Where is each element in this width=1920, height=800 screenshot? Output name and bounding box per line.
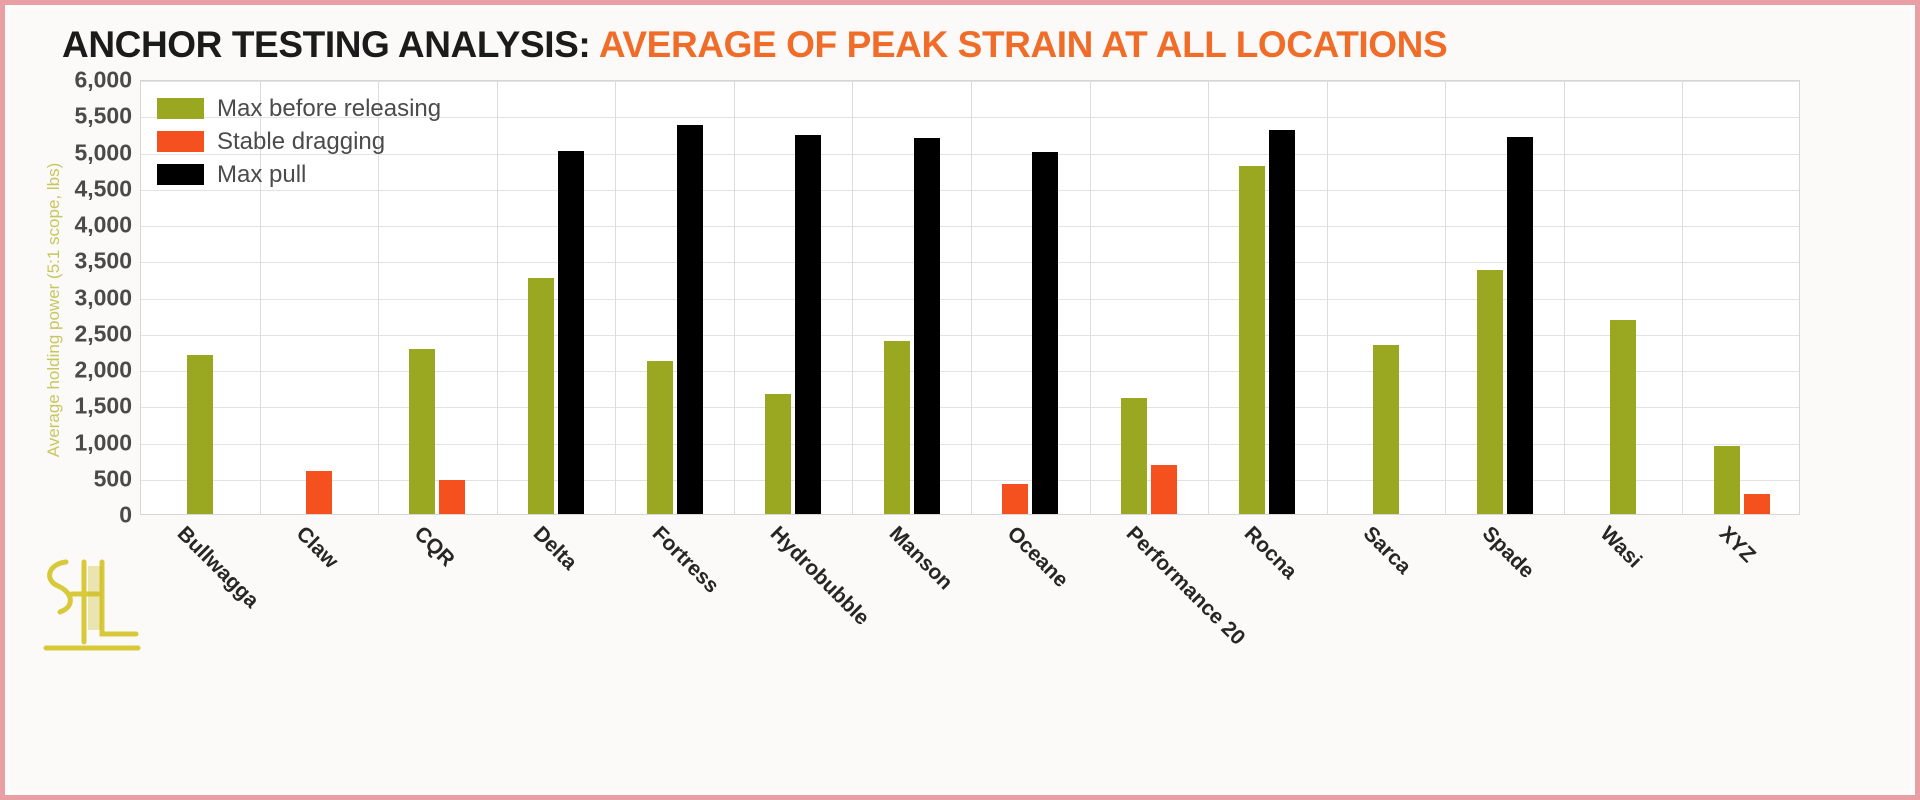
bar bbox=[558, 151, 584, 514]
bar bbox=[1373, 345, 1399, 514]
bar bbox=[1002, 484, 1028, 514]
legend-label: Stable dragging bbox=[217, 128, 385, 156]
legend-swatch bbox=[157, 131, 204, 152]
bar bbox=[1032, 152, 1058, 515]
bar bbox=[306, 471, 332, 514]
x-axis-tick-label: Fortress bbox=[647, 522, 723, 598]
bar bbox=[795, 135, 821, 514]
legend-item[interactable]: Stable dragging bbox=[157, 125, 441, 158]
chart-title: ANCHOR TESTING ANALYSIS: AVERAGE OF PEAK… bbox=[62, 24, 1447, 66]
y-axis-tick-label: 5,500 bbox=[14, 103, 132, 130]
y-axis-tick-label: 1,000 bbox=[14, 429, 132, 456]
sail-logo bbox=[32, 550, 152, 660]
x-axis-tick-label: Bullwagga bbox=[172, 522, 263, 613]
x-axis-tick-label: Manson bbox=[884, 522, 957, 595]
bar bbox=[914, 138, 940, 514]
x-axis-tick-label: Oceane bbox=[1002, 522, 1073, 593]
y-axis-tick-label: 500 bbox=[14, 465, 132, 492]
bar bbox=[409, 349, 435, 514]
chart-title-part2: AVERAGE OF PEAK STRAIN AT ALL LOCATIONS bbox=[599, 24, 1447, 65]
legend-label: Max before releasing bbox=[217, 95, 441, 123]
y-axis-tick-label: 4,500 bbox=[14, 175, 132, 202]
bar bbox=[1610, 320, 1636, 514]
x-axis-tick-label: Rocna bbox=[1239, 522, 1301, 584]
legend-item[interactable]: Max before releasing bbox=[157, 92, 441, 125]
bar bbox=[1507, 137, 1533, 514]
bar bbox=[1269, 130, 1295, 514]
y-axis-tick-label: 3,000 bbox=[14, 284, 132, 311]
y-axis-tick-label: 1,500 bbox=[14, 393, 132, 420]
bar bbox=[1151, 465, 1177, 514]
bar bbox=[1714, 446, 1740, 514]
y-axis-tick-label: 5,000 bbox=[14, 139, 132, 166]
bar bbox=[1121, 398, 1147, 514]
legend-swatch bbox=[157, 98, 204, 119]
chart-title-part1: ANCHOR TESTING ANALYSIS: bbox=[62, 24, 590, 65]
x-axis-tick-label: Spade bbox=[1477, 522, 1539, 584]
y-axis-tick-labels: 6,0005,5005,0004,5004,0003,5003,0002,500… bbox=[10, 10, 132, 790]
x-axis-tick-label: Hydrobubble bbox=[765, 522, 874, 631]
x-axis-tick-label: XYZ bbox=[1714, 522, 1760, 568]
y-axis-tick-label: 2,000 bbox=[14, 357, 132, 384]
bar bbox=[647, 361, 673, 514]
bar bbox=[1744, 494, 1770, 514]
x-axis-tick-label: Delta bbox=[528, 522, 581, 575]
chart-canvas: ANCHOR TESTING ANALYSIS: AVERAGE OF PEAK… bbox=[10, 10, 1910, 790]
chart-legend: Max before releasingStable draggingMax p… bbox=[147, 86, 453, 199]
y-axis-tick-label: 3,500 bbox=[14, 248, 132, 275]
x-axis-tick-label: Sarca bbox=[1358, 522, 1415, 579]
y-axis-tick-label: 4,000 bbox=[14, 212, 132, 239]
legend-item[interactable]: Max pull bbox=[157, 158, 441, 191]
y-axis-tick-label: 6,000 bbox=[14, 67, 132, 94]
legend-swatch bbox=[157, 164, 204, 185]
legend-label: Max pull bbox=[217, 161, 306, 189]
chart-frame: ANCHOR TESTING ANALYSIS: AVERAGE OF PEAK… bbox=[0, 0, 1920, 800]
x-axis-tick-label: Performance 20 bbox=[1121, 522, 1249, 650]
bar bbox=[439, 480, 465, 514]
bar bbox=[1477, 270, 1503, 514]
bar bbox=[765, 394, 791, 514]
y-axis-tick-label: 2,500 bbox=[14, 320, 132, 347]
x-axis-tick-label: Wasi bbox=[1595, 522, 1646, 573]
bar bbox=[187, 355, 213, 514]
x-axis-tick-label: Claw bbox=[291, 522, 343, 574]
bar bbox=[884, 341, 910, 514]
bar bbox=[528, 278, 554, 514]
x-axis-tick-label: CQR bbox=[409, 522, 459, 572]
bar bbox=[677, 125, 703, 514]
bar bbox=[1239, 166, 1265, 514]
y-axis-tick-label: 0 bbox=[14, 502, 132, 529]
